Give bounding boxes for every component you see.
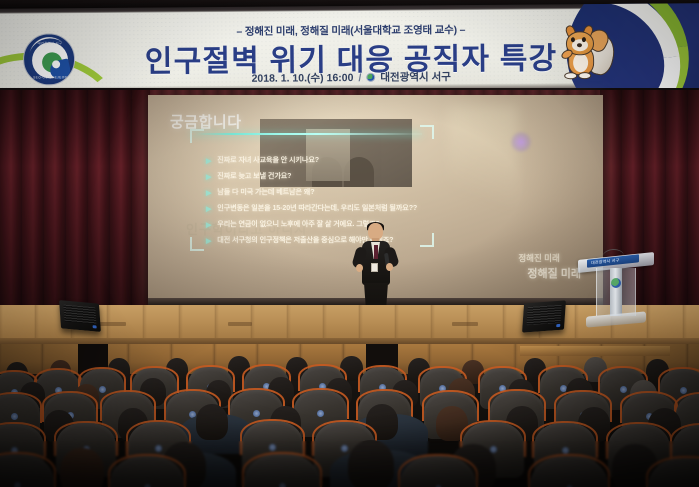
monitor-led-icon <box>93 325 97 328</box>
podium-base <box>586 311 646 327</box>
floor-vent <box>98 322 126 326</box>
presenter-name-badge <box>371 263 378 272</box>
presenter-tie <box>374 245 378 259</box>
audience-head <box>196 404 228 440</box>
banner-date: 2018. 1. 10.(수) 16:00 <box>251 70 353 86</box>
podium-logo-icon <box>611 278 621 288</box>
banner-separator: / <box>358 71 361 83</box>
curtain-left <box>0 90 150 308</box>
audience-area <box>0 344 699 487</box>
lecture-hall-photo: 대전광역시 서구 SEO-GU DAEJEON <box>0 0 699 487</box>
banner-organizer: 대전광역시 서구 <box>380 69 451 85</box>
presenter-hand-left <box>356 264 363 272</box>
stage-banner: 대전광역시 서구 SEO-GU DAEJEON <box>0 3 699 95</box>
monitor-led-icon <box>556 324 560 327</box>
monitor-grill <box>63 305 96 325</box>
floor-vent <box>452 322 478 326</box>
podium-column <box>610 268 622 316</box>
floor-vent <box>228 322 252 326</box>
banner-surface: 대전광역시 서구 SEO-GU DAEJEON <box>0 8 699 88</box>
audience-foreground-blur <box>0 441 699 487</box>
stage-monitor-left <box>59 300 101 332</box>
stage-monitor-right <box>522 300 566 332</box>
city-logo-icon <box>366 73 375 82</box>
presenter-hand-right <box>386 263 393 271</box>
monitor-grill <box>527 305 562 326</box>
podium: 대전광역시 서구 <box>578 256 654 328</box>
wall-ledge <box>520 346 670 356</box>
